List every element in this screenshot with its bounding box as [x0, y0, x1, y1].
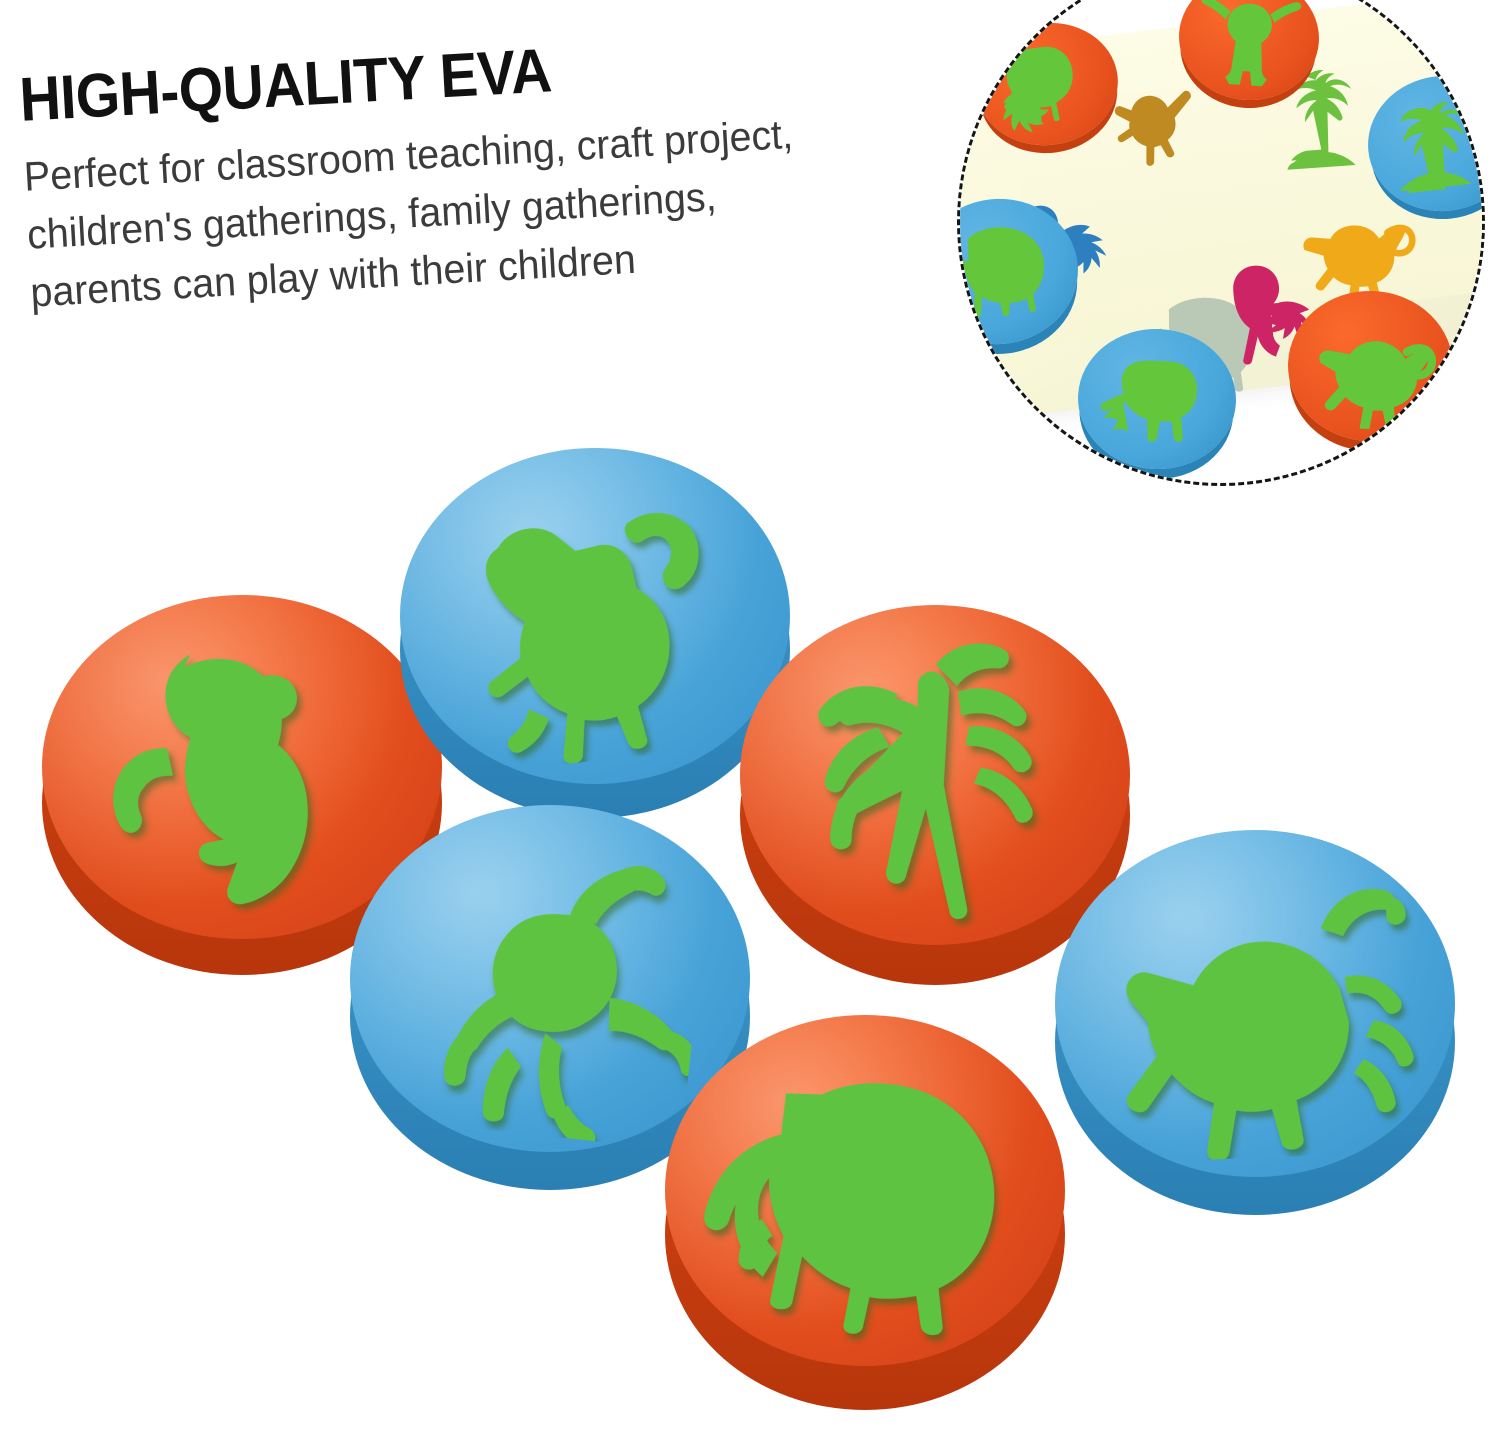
stamp-elephant-orange-bottom: [665, 1015, 1065, 1410]
lion-shape: [1082, 852, 1422, 1163]
monkey-arms-up-icon: [1187, 0, 1312, 94]
palm-tree-shape: [759, 612, 1098, 951]
elephant-icon: [960, 204, 1071, 339]
stamp-palm-tree-orange: [740, 605, 1130, 985]
frog-shape: [377, 820, 712, 1150]
feature-description: Perfect for classroom teaching, craft pr…: [22, 104, 818, 322]
feature-text-block: HIGH-QUALITY EVA Perfect for classroom t…: [18, 24, 861, 323]
monkey-with-banana-icon: [981, 25, 1113, 143]
palm-tree-icon: [1374, 81, 1482, 207]
stamp-lion-blue-top: [400, 448, 790, 818]
stamp-lion-blue-right: [1055, 830, 1455, 1215]
lion-shape: [432, 465, 760, 775]
inset-scene: [960, 0, 1482, 483]
eva-foam-stamp-set-photo: [0, 420, 1500, 1440]
elephant-shape: [64, 609, 396, 941]
lion-icon: [1299, 301, 1442, 432]
elephant-shape: [692, 1039, 1032, 1350]
stamped-artwork-inset: [957, 0, 1485, 486]
